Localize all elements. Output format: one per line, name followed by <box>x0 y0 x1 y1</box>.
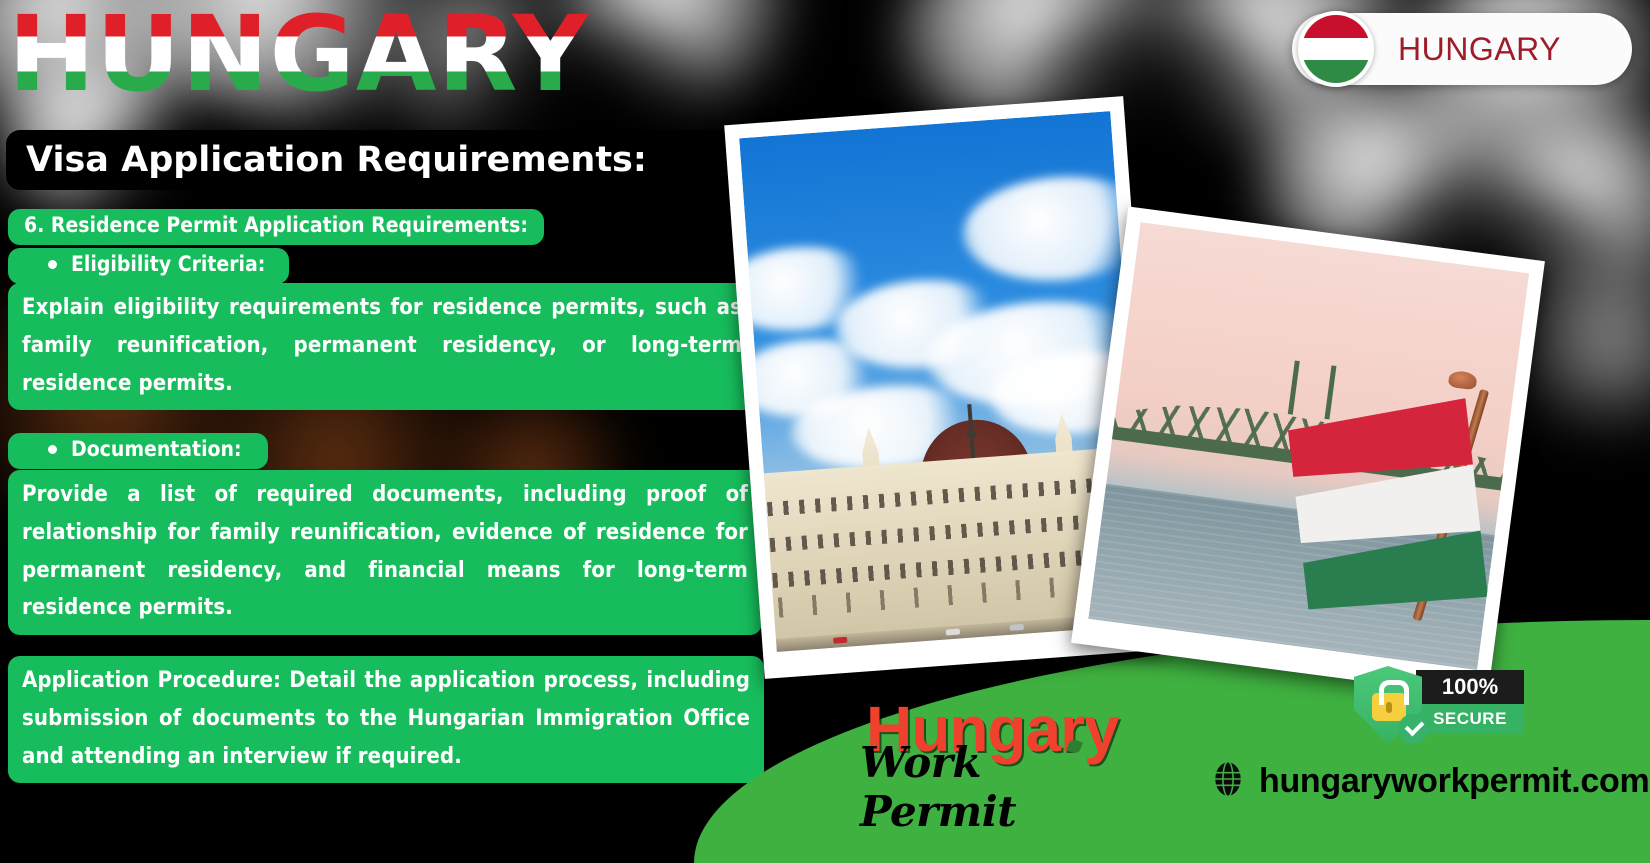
section-heading-label: 6. Residence Permit Application Requirem… <box>8 209 544 245</box>
website-link[interactable]: hungaryworkpermit.com <box>1209 760 1649 803</box>
globe-icon <box>1209 760 1247 803</box>
check-circle-icon <box>1398 714 1428 744</box>
website-url: hungaryworkpermit.com <box>1259 762 1649 801</box>
documentation-body: Provide a list of required documents, in… <box>8 470 762 635</box>
bullet-eligibility-chip: Eligibility Criteria: <box>8 248 289 284</box>
bullet-documentation-label: Documentation: <box>71 437 242 463</box>
bullet-documentation: Documentation: <box>8 433 268 469</box>
bullet-eligibility-label: Eligibility Criteria: <box>71 252 265 278</box>
heading-bar: Visa Application Requirements: <box>6 130 734 190</box>
bullet-eligibility: Eligibility Criteria: <box>8 248 289 284</box>
application-procedure: Application Procedure: Detail the applic… <box>8 656 764 783</box>
page-title: HUNGARY <box>8 2 589 106</box>
bullet-dot-icon <box>48 445 57 454</box>
documentation-body-text: Provide a list of required documents, in… <box>8 470 762 635</box>
secure-percent: 100% <box>1416 670 1524 704</box>
status-badge: 100% SECURE <box>1352 658 1527 748</box>
bullet-dot-icon <box>48 260 57 269</box>
eligibility-body: Explain eligibility requirements for res… <box>8 283 756 410</box>
secure-label: SECURE <box>1416 704 1524 734</box>
eligibility-body-text: Explain eligibility requirements for res… <box>8 283 756 410</box>
bullet-documentation-chip: Documentation: <box>8 433 268 469</box>
application-procedure-text: Application Procedure: Detail the applic… <box>8 656 764 783</box>
section-heading: 6. Residence Permit Application Requirem… <box>8 209 544 245</box>
hungarian-flag-liberty-bridge-photo <box>1071 206 1545 697</box>
hungary-flag-circle-icon <box>1298 11 1374 87</box>
poster-canvas: HUNGARY Visa Application Requirements: 6… <box>0 0 1650 863</box>
brand-logo: Hungary Work Permit <box>866 692 1116 797</box>
country-badge-label: HUNGARY <box>1398 31 1561 68</box>
heading-text: Visa Application Requirements: <box>6 140 647 180</box>
country-badge[interactable]: HUNGARY <box>1292 13 1632 85</box>
logo-secondary-text: Work Permit <box>860 738 1116 836</box>
